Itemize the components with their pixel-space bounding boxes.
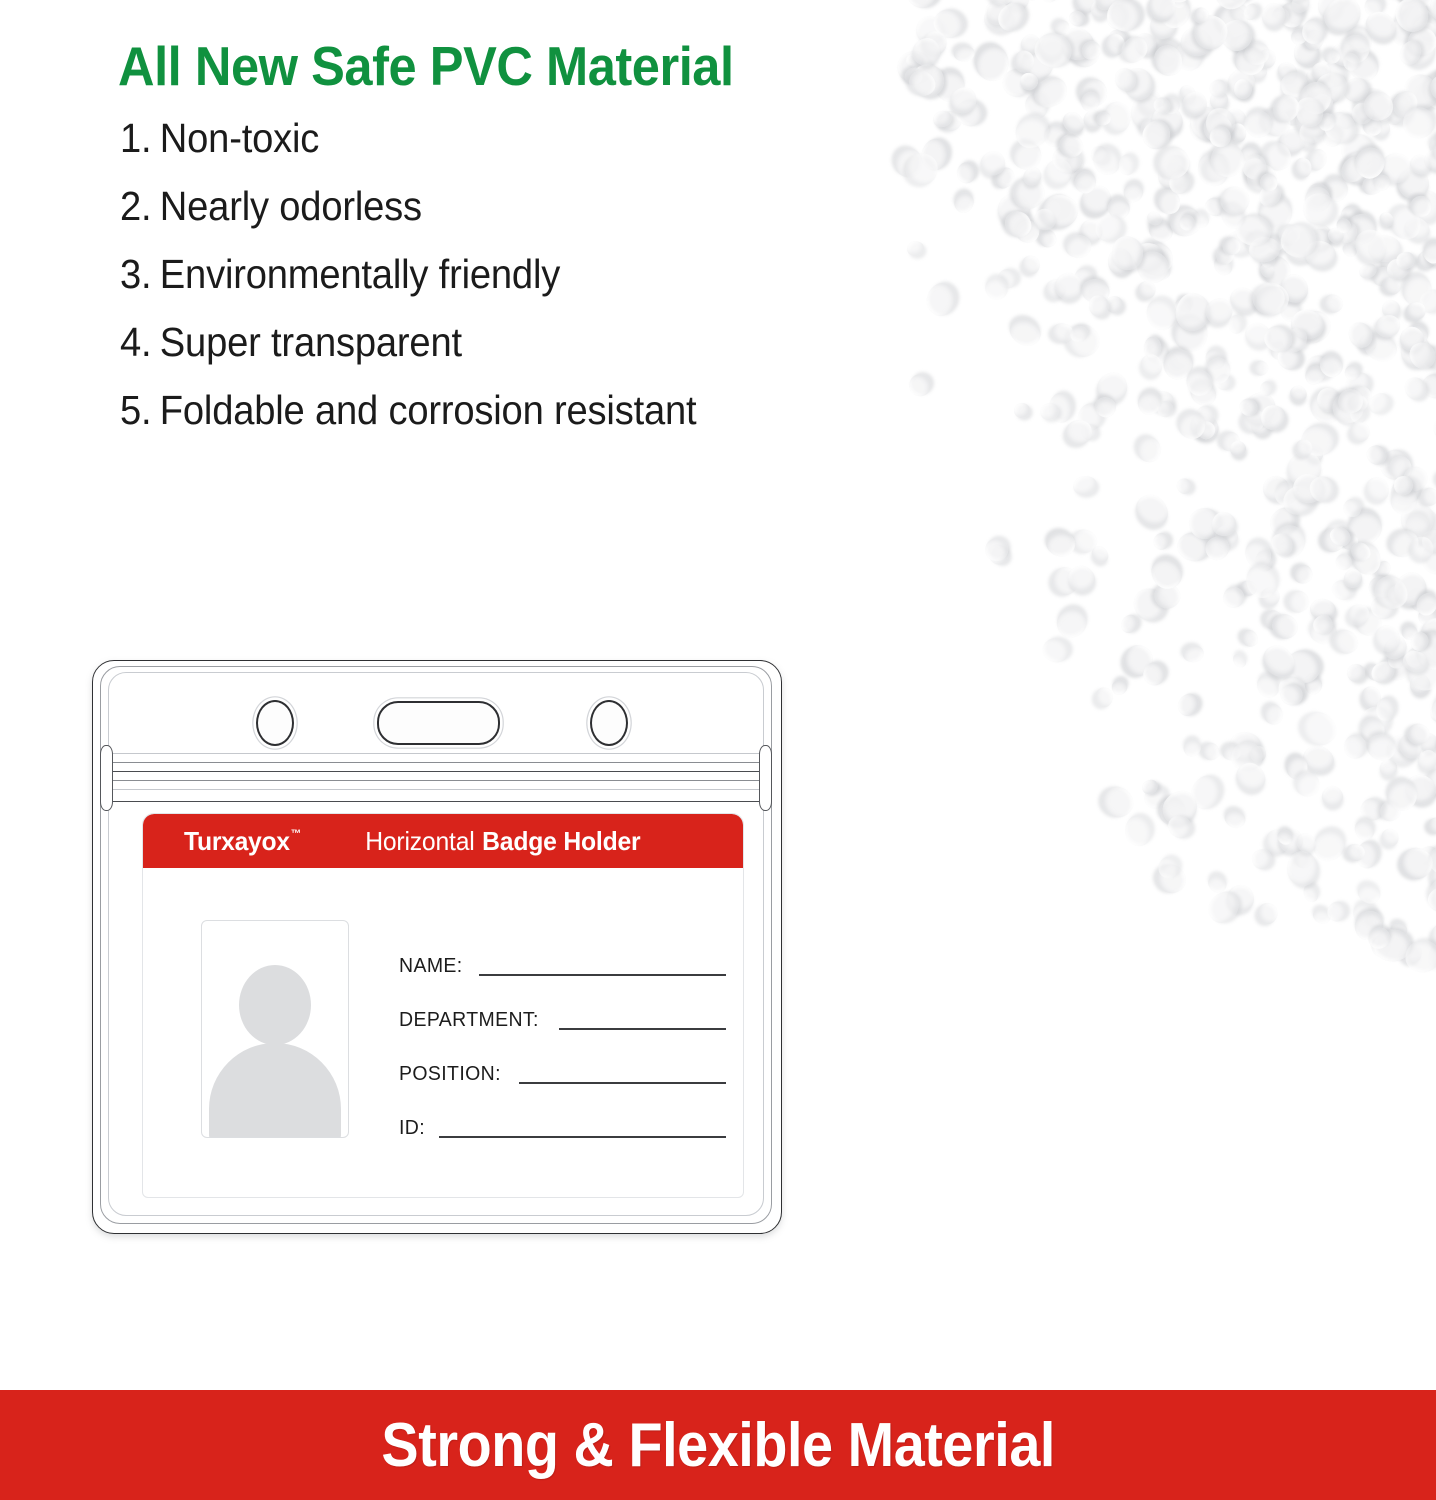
pvc-pellet [1302,673,1325,697]
pvc-pellet [1302,224,1334,256]
pvc-pellet [1205,871,1230,896]
pvc-pellet [1368,575,1393,597]
pvc-pellet [1310,92,1335,117]
pvc-pellet [1193,14,1229,51]
pvc-pellet [1259,402,1289,432]
pvc-pellet [1329,0,1361,1]
pvc-pellet [1143,785,1169,810]
pvc-pellet [1228,731,1261,760]
pvc-pellet [1065,562,1099,595]
pvc-pellet [1253,671,1284,702]
pvc-pellet [1301,882,1322,904]
pvc-pellet [1086,293,1111,320]
pvc-pellet [1133,31,1158,57]
pvc-pellet [1050,267,1088,305]
photo-placeholder [201,920,349,1138]
pvc-pellet [1292,473,1325,504]
pvc-pellet [1038,400,1062,422]
pvc-pellet [1335,128,1380,173]
pvc-pellet [1286,850,1320,887]
pvc-pellet [1367,657,1398,687]
pvc-pellet [1139,777,1160,797]
pvc-pellet [1380,299,1402,321]
pvc-pellet [1103,293,1125,315]
pvc-pellet [981,0,1013,27]
pvc-pellet [1258,136,1297,175]
pvc-pellet [1241,560,1283,604]
pvc-pellet [1427,133,1436,159]
pvc-pellet [1069,324,1090,344]
pvc-pellet [1340,208,1382,250]
pvc-pellet [993,0,1032,37]
pvc-pellet [1275,826,1297,847]
pvc-pellet [1377,210,1397,230]
pvc-pellet [903,50,925,71]
pvc-pellet [1108,676,1130,698]
pvc-pellet [1274,824,1308,858]
pvc-pellet [1238,154,1272,188]
pvc-pellet [1093,394,1119,419]
pvc-pellet [1156,784,1204,832]
pvc-pellet [1062,417,1095,449]
pvc-pellet [1349,393,1370,413]
pvc-pellet [1310,906,1332,926]
pvc-pellet [1319,124,1344,150]
field-write-line [439,1136,726,1138]
pvc-pellet [1241,536,1276,573]
pvc-pellet [1355,701,1396,742]
pvc-pellet [1228,27,1261,60]
pvc-pellet [1299,133,1317,149]
pvc-pellet [1402,771,1436,808]
pvc-pellet [1345,662,1368,685]
pvc-pellet [1217,200,1250,234]
pvc-pellet [1358,170,1388,199]
pvc-pellet [1397,845,1435,881]
pvc-pellet [1273,671,1311,709]
pvc-pellet [1419,527,1436,556]
pvc-pellet [1304,66,1327,88]
pvc-pellet [1019,253,1042,276]
pvc-pellet [1414,746,1436,775]
pvc-pellet [1288,0,1313,16]
pvc-pellet [1210,252,1236,279]
pvc-pellet [1423,764,1436,803]
pvc-pellet [1401,465,1430,494]
pvc-pellet [1396,37,1424,68]
pvc-pellet [1151,531,1171,552]
pvc-pellet [1406,75,1436,116]
pvc-pellet [1341,566,1366,591]
pvc-pellet [1346,24,1376,56]
pvc-pellet [1224,123,1244,144]
zip-seal-edge-left [100,745,113,811]
pvc-pellet [1258,903,1278,925]
pvc-pellet [1349,224,1392,268]
pvc-pellet [1221,226,1257,259]
pvc-pellet [930,67,969,106]
pvc-pellet [1268,609,1302,643]
pvc-pellet [1260,321,1295,356]
field-label: DEPARTMENT: [399,1008,539,1034]
pvc-pellet [1398,939,1426,967]
pvc-pellet [1300,742,1338,777]
pvc-pellet [1365,389,1395,418]
pvc-pellet [1286,756,1308,780]
pvc-pellet [1309,58,1336,85]
pvc-pellet [1370,621,1405,657]
pvc-pellet [1389,566,1432,611]
pvc-pellet [1359,684,1384,711]
pvc-pellet [1325,386,1369,430]
pvc-pellet [1198,109,1238,148]
pvc-pellet [1365,908,1387,930]
pvc-pellet [1340,205,1361,229]
pvc-pellet [1159,0,1197,7]
pvc-pellet [1145,209,1165,228]
pvc-pellet [1160,150,1190,180]
pvc-pellet [1302,27,1327,52]
pvc-pellet [1195,420,1216,440]
pvc-pellet [1148,35,1189,76]
pvc-pellet [1177,412,1205,440]
pvc-pellet [1279,481,1321,521]
pvc-pellet [1295,116,1328,148]
pvc-pellet [1145,6,1181,43]
pvc-pellet [1386,258,1410,280]
pvc-pellet [1385,452,1415,482]
pvc-pellet [945,82,982,119]
pvc-pellet [1301,362,1328,389]
pvc-pellet [1107,5,1128,30]
pvc-pellet [1289,307,1326,341]
pvc-pellet [1421,345,1436,372]
pvc-pellet [1250,281,1290,321]
pvc-pellet [1186,409,1224,446]
pvc-pellet [1427,940,1436,975]
pvc-pellet [1212,370,1235,393]
pvc-pellet [1236,142,1265,171]
pvc-pellet [1276,67,1318,107]
pvc-pellet [1307,82,1320,97]
pvc-pellet [1411,14,1436,51]
pvc-pellet [1395,731,1426,763]
pvc-pellet [1128,582,1171,626]
pvc-pellet [902,65,926,89]
pvc-pellet [1348,421,1370,443]
pvc-pellet [1150,94,1174,117]
pvc-pellet [1385,526,1423,562]
pvc-pellet [1367,934,1392,960]
pvc-pellet [1105,34,1125,56]
pvc-pellet [1257,639,1301,683]
pvc-pellet [1384,778,1418,813]
pvc-pellet [1305,471,1341,507]
pvc-pellet [1220,185,1250,214]
pvc-pellet [1359,717,1386,745]
pvc-pellet [1432,586,1436,625]
pvc-pellet [1420,237,1436,266]
pvc-pellet [1353,85,1393,124]
pvc-pellet [1202,195,1227,219]
pvc-pellet [1031,206,1058,233]
pvc-pellet [1217,427,1245,455]
pvc-pellet [1428,73,1436,103]
pvc-pellet [1183,502,1226,545]
pvc-pellet [1178,24,1216,60]
pvc-pellet [1155,397,1177,419]
pvc-pellet [1258,584,1283,609]
pvc-pellet [1086,281,1108,303]
pvc-pellet [1147,256,1174,284]
pvc-pellet [1141,293,1181,335]
pvc-pellet [1160,93,1184,117]
pvc-pellet [1164,811,1196,843]
pvc-pellet [1309,66,1351,107]
pvc-pellet [1368,569,1413,615]
pvc-pellet [1376,149,1415,187]
pvc-pellet [1060,319,1105,364]
pvc-pellet [1166,0,1197,2]
pvc-pellet [1094,687,1113,707]
pvc-pellet [1252,190,1298,237]
pvc-pellet [1115,31,1152,68]
pvc-pellet [1275,125,1310,158]
pvc-pellet [1118,154,1137,176]
pvc-pellet [1419,68,1436,114]
pvc-pellet [1388,474,1423,508]
pvc-pellet [984,541,1012,569]
pvc-pellet [1070,165,1097,191]
pvc-pellet [1302,440,1326,465]
pvc-pellet [1173,316,1209,353]
pvc-pellet [1358,796,1385,823]
pvc-pellet [1080,107,1105,132]
pvc-pellet [1300,424,1337,457]
pvc-pellet [1052,17,1072,37]
pvc-pellet [1398,28,1436,73]
pvc-pellet [1322,48,1341,65]
pvc-pellet [1198,739,1223,764]
pvc-pellet [1019,72,1040,92]
pvc-pellet [1384,581,1409,606]
pvc-pellet [1319,174,1350,205]
pvc-pellet [1386,482,1423,519]
pvc-pellet [1181,364,1218,401]
pvc-pellet [1218,233,1244,259]
pvc-pellet [1125,0,1146,1]
pvc-pellet [1277,0,1312,4]
pvc-pellet [1429,0,1436,2]
pvc-pellet [1390,473,1415,499]
pvc-pellet [1341,148,1382,187]
zip-seal-line [106,801,766,802]
pvc-pellet [1147,389,1176,414]
pvc-pellet [1267,529,1296,559]
pvc-pellet [1123,813,1154,847]
pvc-pellet [1317,105,1362,149]
pvc-pellet [894,46,935,85]
pvc-pellet [1145,0,1179,24]
pvc-pellet [1255,179,1286,210]
pvc-pellet [1150,41,1187,80]
pvc-pellet [1207,89,1230,113]
pvc-pellet [1174,475,1196,497]
pvc-pellet [1407,151,1434,177]
page-title: All New Safe PVC Material [118,34,734,98]
pvc-pellet [1398,68,1436,115]
pvc-pellet [1166,168,1195,197]
pvc-pellet [1319,782,1347,810]
pvc-pellet [1396,1,1436,43]
pvc-pellet [1406,657,1436,693]
zip-seal-line [106,771,766,772]
pvc-pellet [1338,31,1375,68]
pvc-pellet [1154,0,1197,34]
pvc-pellet [1376,697,1396,722]
pvc-pellet [1309,618,1339,646]
pvc-pellet [1375,444,1416,485]
badge-holder-product: Turxayox™ HorizontalBadge Holder NAME: D… [92,660,780,1232]
pvc-pellet [1035,227,1059,251]
pvc-pellet [1205,107,1235,139]
zip-seal-edge-right [759,745,772,811]
pvc-pellet [1334,385,1366,417]
pvc-pellet [1317,0,1367,39]
pvc-pellet [1222,880,1260,918]
pvc-pellet [1375,247,1407,279]
pvc-pellet [1432,635,1436,668]
pvc-pellet [1333,218,1361,247]
pvc-pellet [1408,629,1432,654]
pvc-pellet [1294,770,1322,798]
pvc-pellet [1017,30,1044,57]
pvc-pellet [1349,904,1389,945]
pvc-pellet [1237,395,1261,419]
pvc-pellet [1259,606,1287,634]
pvc-pellet [1302,239,1338,272]
pvc-pellet [1369,116,1393,140]
pvc-pellet [1340,241,1360,260]
pvc-pellet [1377,756,1400,780]
pvc-pellet [1278,323,1312,357]
pvc-pellet [1257,261,1277,281]
pvc-pellet [1339,73,1373,106]
pvc-pellet [981,3,1016,35]
pvc-pellet [1072,0,1099,15]
pvc-pellet [1364,923,1394,953]
pvc-pellet [1362,0,1385,18]
pvc-pellet [1042,276,1069,302]
pvc-pellet [1215,14,1258,57]
pvc-pellet [1191,209,1212,230]
pvc-pellet [1300,351,1336,387]
field-row-name: NAME: [399,926,743,980]
pvc-pellet [1118,611,1141,635]
pvc-pellet [1399,0,1428,7]
pvc-pellet [1076,215,1107,246]
pvc-pellet [1365,732,1399,763]
pvc-pellet [1041,636,1072,664]
pvc-pellet [1357,152,1385,179]
pvc-pellet [1258,380,1274,398]
list-item-number: 3. [120,251,151,297]
list-item: 4.Super transparent [120,322,957,363]
person-avatar-icon [239,965,311,1045]
pvc-pellet [1292,849,1315,872]
pvc-pellet [1158,345,1198,386]
pvc-pellet [1317,0,1343,20]
pvc-pellet [1411,188,1436,223]
pvc-pellet [1276,236,1292,253]
pvc-pellet [1400,213,1433,245]
pvc-pellet [1288,26,1309,47]
pvc-pellet [1383,103,1406,126]
pvc-pellet [1182,644,1205,664]
pvc-pellet [1248,744,1269,765]
pvc-pellet [1133,433,1164,466]
pvc-pellet [1350,404,1368,425]
pvc-pellet [1379,826,1402,850]
pvc-pellet [1147,100,1189,142]
pvc-pellet [1350,143,1389,183]
pvc-pellet [1131,240,1166,272]
pvc-pellet [1273,341,1306,374]
pvc-pellet [1177,82,1200,105]
pvc-pellet [1279,1,1304,27]
pvc-pellet [1211,143,1244,177]
pvc-pellet [1088,143,1111,166]
pvc-pellet [1270,6,1290,27]
pvc-pellet [1221,742,1243,762]
pvc-pellet [1348,897,1383,932]
pvc-pellet [1057,25,1097,64]
pvc-pellet [1239,579,1259,598]
pvc-pellet [1112,65,1140,94]
pvc-pellet [1295,439,1313,458]
pvc-pellet [1405,337,1436,373]
pvc-pellet [1136,87,1164,117]
field-row-position: POSITION: [399,1034,743,1088]
list-item-label: Foldable and corrosion resistant [160,387,697,433]
pvc-pellet [1226,283,1262,317]
list-item-number: 5. [120,387,151,433]
pvc-pellet [1361,117,1383,138]
pvc-pellet [1400,509,1433,542]
pvc-pellet [1263,827,1292,857]
pvc-pellet [1429,0,1436,23]
pvc-pellet [1346,602,1372,627]
pvc-pellet [1386,650,1406,670]
pvc-pellet [1069,527,1099,556]
pvc-pellet [1334,216,1353,236]
pvc-pellet [1342,46,1384,87]
pvc-pellet [1173,290,1213,334]
pvc-pellet [1157,162,1186,189]
pvc-pellet [1275,220,1304,249]
pvc-pellet [1395,0,1434,36]
pvc-pellet [1103,100,1132,133]
pvc-pellet [1105,25,1131,51]
pvc-pellet [1426,855,1436,901]
pvc-pellet [1329,625,1363,658]
pvc-pellet [1030,29,1076,73]
pvc-pellet [1158,856,1181,879]
card-title: HorizontalBadge Holder [365,826,640,857]
pvc-pellet [1243,160,1280,196]
list-item-number: 2. [120,183,151,229]
pvc-pellet [1078,421,1100,443]
